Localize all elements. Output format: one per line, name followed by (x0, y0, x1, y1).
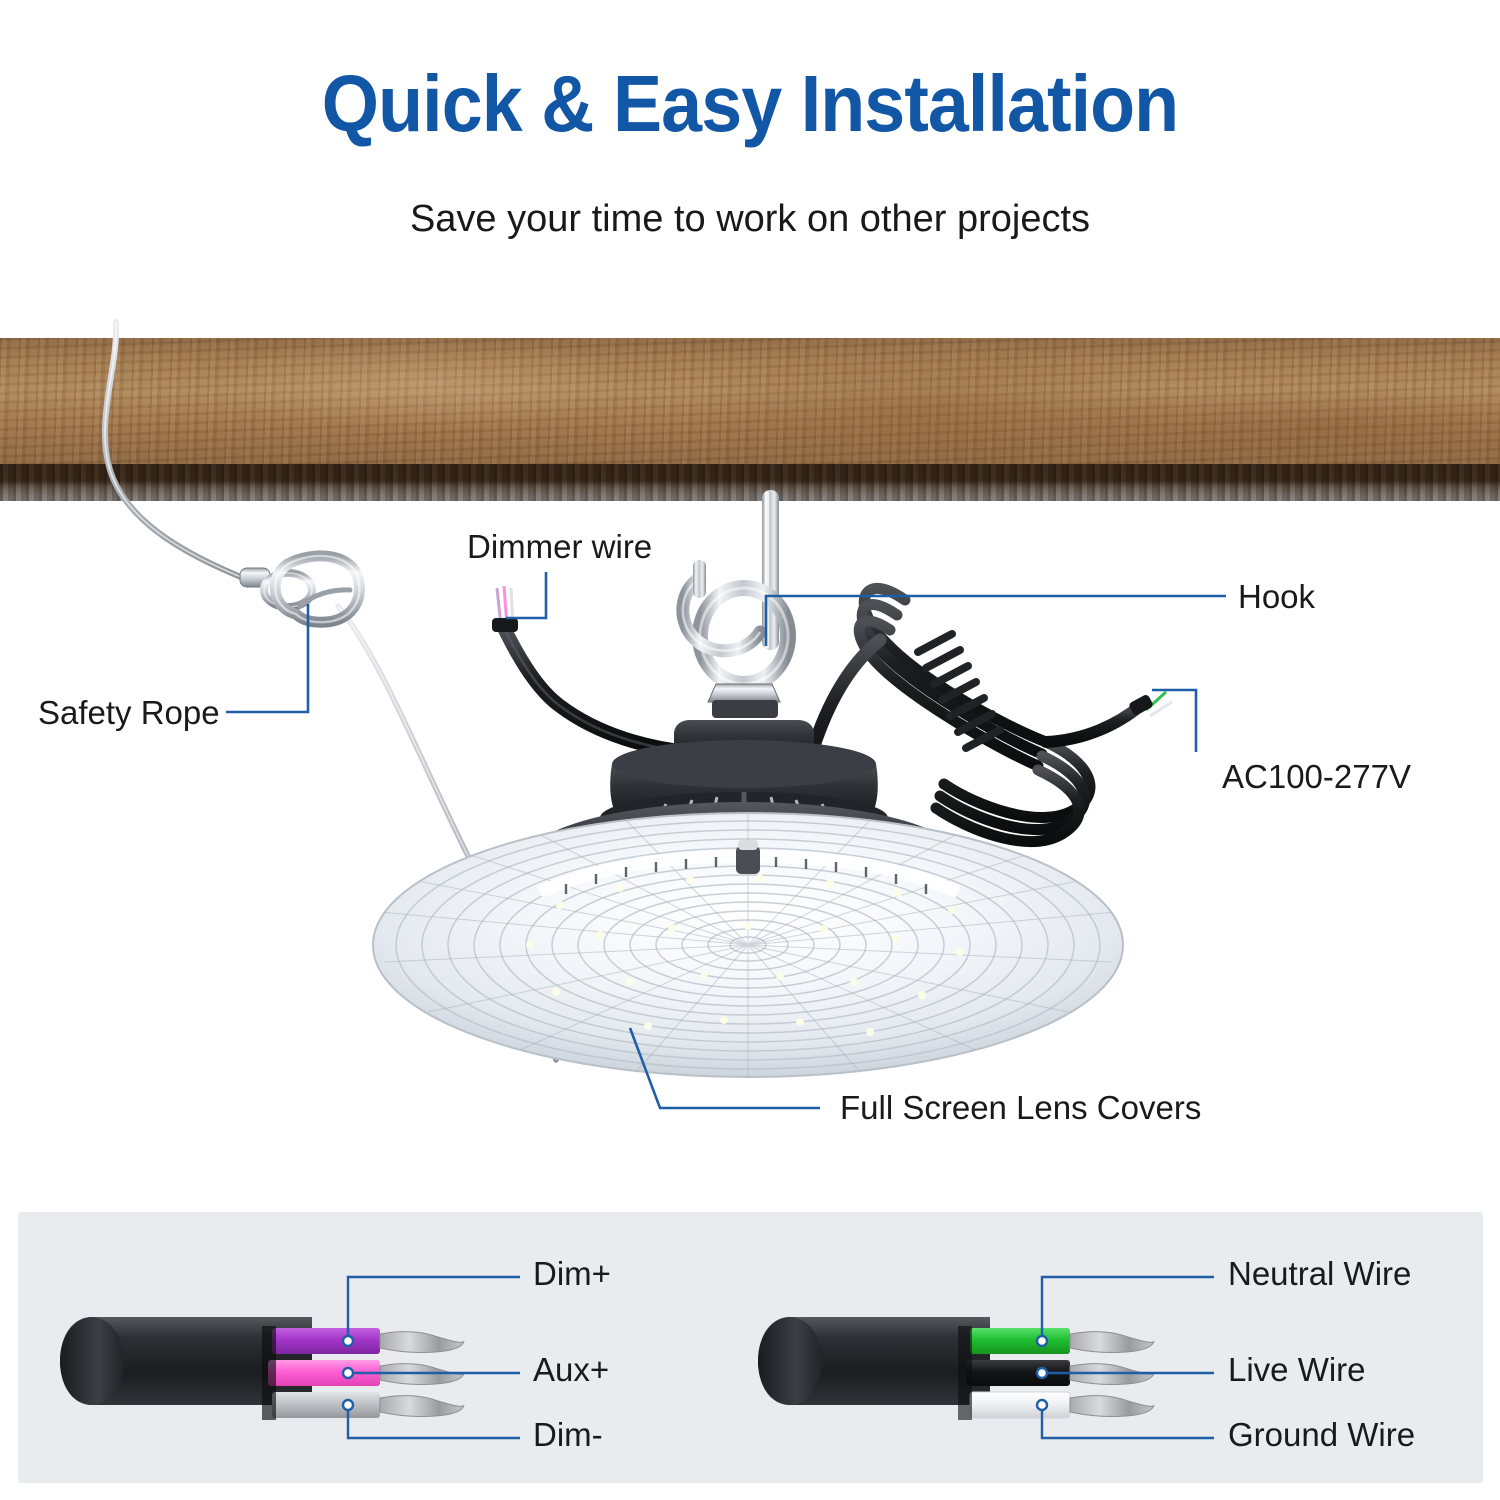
label-dimmer-wire: Dimmer wire (467, 528, 652, 566)
label-dim-minus: Dim- (533, 1416, 603, 1454)
label-safety-rope: Safety Rope (38, 694, 220, 732)
infographic-page: Quick & Easy Installation Save your time… (0, 0, 1500, 1500)
page-subtitle: Save your time to work on other projects (0, 198, 1500, 241)
ac-power-cord (798, 588, 1172, 841)
high-bay-light-fixture (373, 720, 1123, 1078)
beam-face (0, 338, 1500, 464)
label-hook: Hook (1238, 578, 1315, 616)
lens-rings (380, 812, 1116, 1078)
beam-edge (0, 464, 1500, 501)
label-voltage: AC100-277V (1222, 758, 1411, 796)
dimmer-wire-lead (492, 586, 688, 752)
hook-hardware (683, 560, 788, 718)
heat-sink-fins (600, 792, 888, 840)
callout-leader-lines (226, 572, 1226, 1108)
wooden-beam (0, 338, 1500, 501)
page-title: Quick & Easy Installation (60, 58, 1440, 150)
mounting-rod (762, 490, 779, 650)
label-neutral-wire: Neutral Wire (1228, 1255, 1411, 1293)
carabiner-clip (264, 556, 359, 622)
label-ground-wire: Ground Wire (1228, 1416, 1415, 1454)
label-live-wire: Live Wire (1228, 1351, 1366, 1389)
label-aux-plus: Aux+ (533, 1351, 609, 1389)
label-dim-plus: Dim+ (533, 1255, 611, 1293)
label-lens-covers: Full Screen Lens Covers (840, 1089, 1201, 1127)
